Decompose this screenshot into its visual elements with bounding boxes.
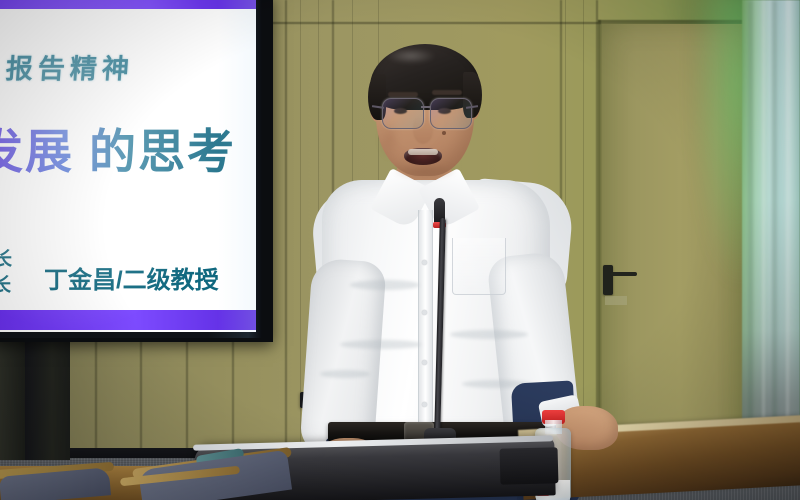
wall-panel-seam bbox=[95, 330, 97, 460]
shirt-fold bbox=[340, 340, 424, 349]
shirt-placket bbox=[418, 210, 433, 425]
shirt-fold bbox=[350, 280, 420, 290]
shirt-fold bbox=[450, 330, 528, 339]
wall-panel-seam bbox=[285, 0, 287, 450]
shirt-button bbox=[422, 310, 427, 315]
slide-top-border bbox=[0, 0, 256, 9]
shirt-fold bbox=[320, 370, 370, 378]
shirt-button bbox=[422, 402, 427, 407]
slide-title: 发展 的思考 bbox=[0, 113, 236, 182]
photograph-scene: ’ 报告精神 发展 的思考 会长 长 丁金昌/二级教授 bbox=[0, 0, 800, 500]
eyebrow-right bbox=[432, 90, 462, 95]
wall-panel-seam bbox=[186, 330, 188, 460]
dark-wall-column bbox=[0, 338, 28, 460]
wall-panel-seam bbox=[140, 330, 142, 460]
eyeglasses-bridge bbox=[421, 106, 431, 108]
nose bbox=[413, 116, 433, 144]
eyeglasses-lens-right bbox=[430, 98, 472, 129]
slide-brush-heading: 报告精神 bbox=[5, 47, 136, 86]
slide-subtitle-line-1: 会长 bbox=[0, 244, 12, 271]
slide-speaker-name: 丁金昌/二级教授 bbox=[44, 260, 219, 295]
dark-wall-column bbox=[25, 340, 70, 460]
chin-shadow bbox=[392, 162, 458, 180]
presentation-screen[interactable]: ’ 报告精神 发展 的思考 会长 长 丁金昌/二级教授 bbox=[0, 0, 256, 332]
shirt-button bbox=[422, 260, 427, 265]
eyebrow-left bbox=[388, 92, 418, 97]
slide-subtitle-line-2: 长 bbox=[0, 270, 11, 297]
facial-mole bbox=[442, 131, 446, 135]
shirt-pocket bbox=[452, 238, 506, 295]
shirt-button bbox=[422, 360, 427, 365]
wall-panel-seam bbox=[232, 330, 234, 460]
hair-highlight bbox=[386, 48, 436, 64]
slide-bottom-border bbox=[0, 310, 256, 330]
teeth bbox=[408, 149, 438, 155]
laptop-hinge bbox=[500, 447, 559, 485]
